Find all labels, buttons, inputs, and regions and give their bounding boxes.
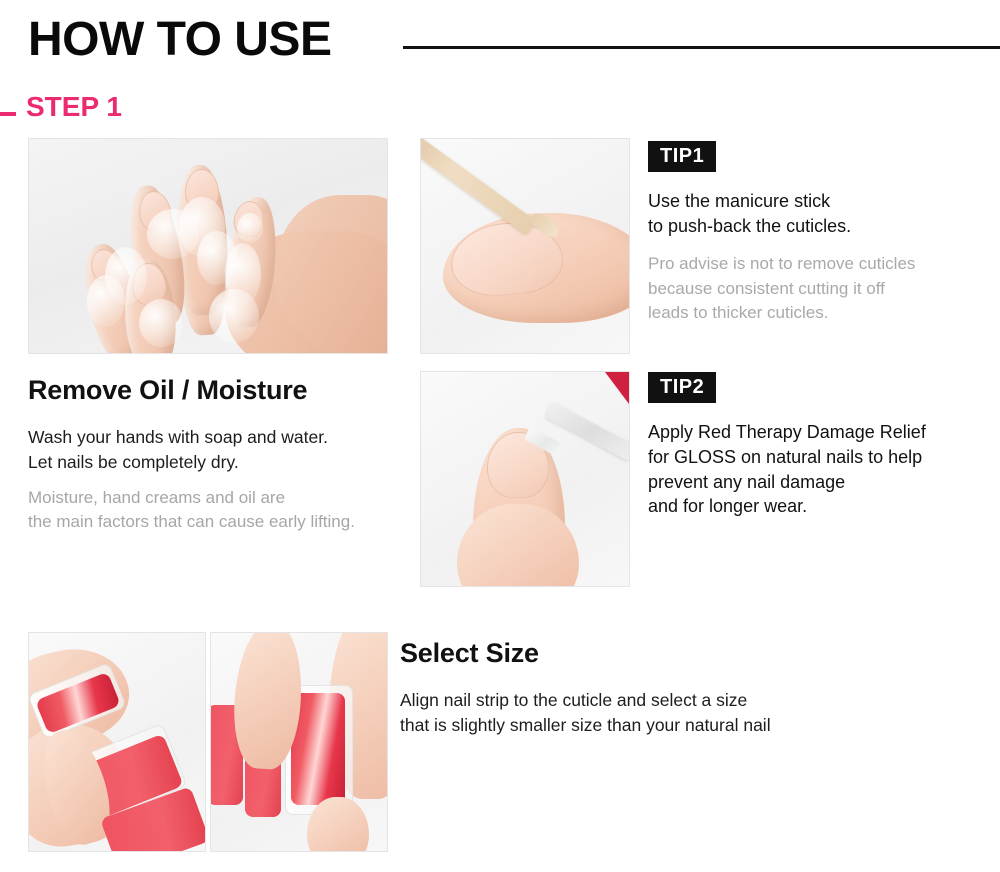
red-bottle-corner	[605, 372, 629, 404]
tip-2-main-line-3: prevent any nail damage	[648, 470, 926, 495]
page-title: HOW TO USE	[28, 16, 331, 64]
tip-1-main-text: Use the manicure stick to push-back the …	[648, 189, 851, 239]
remove-oil-note-line-1: Moisture, hand creams and oil are	[28, 486, 355, 510]
tip-2-main-text: Apply Red Therapy Damage Relief for GLOS…	[648, 420, 926, 519]
remove-oil-note-line-2: the main factors that can cause early li…	[28, 510, 355, 534]
tip-1-main-line-1: Use the manicure stick	[648, 189, 851, 214]
header-rule-divider	[403, 46, 1000, 49]
photo-manicure-stick	[420, 138, 630, 354]
remove-oil-body-line-1: Wash your hands with soap and water.	[28, 425, 328, 450]
photo-hands-with-soap	[28, 138, 388, 354]
section-body-select-size: Align nail strip to the cuticle and sele…	[400, 688, 771, 738]
manicure-stick-scene	[421, 139, 629, 353]
tip-2-main-line-2: for GLOSS on natural nails to help	[648, 445, 926, 470]
gloss-brush-scene	[421, 372, 629, 586]
section-heading-remove-oil: Remove Oil / Moisture	[28, 375, 307, 405]
photo-gloss-brush	[420, 371, 630, 587]
tip-1-note-line-1: Pro advise is not to remove cuticles	[648, 252, 915, 277]
section-body-remove-oil: Wash your hands with soap and water. Let…	[28, 425, 328, 475]
size-select-left-scene	[29, 633, 205, 851]
tip-1-note-line-2: because consistent cutting it off	[648, 277, 915, 302]
select-size-body-line-1: Align nail strip to the cuticle and sele…	[400, 688, 771, 713]
tip-1-note-line-3: leads to thicker cuticles.	[648, 301, 915, 326]
tip-2-main-line-1: Apply Red Therapy Damage Relief	[648, 420, 926, 445]
size-select-right-scene	[211, 633, 387, 851]
how-to-use-instruction-panel: HOW TO USE STEP 1	[0, 0, 1000, 872]
step-label: STEP 1	[26, 93, 122, 121]
tip-badge-2: TIP2	[648, 372, 716, 403]
step-dash-marker	[0, 112, 16, 116]
tip-2-main-line-4: and for longer wear.	[648, 494, 926, 519]
tip-1-main-line-2: to push-back the cuticles.	[648, 214, 851, 239]
section-note-remove-oil: Moisture, hand creams and oil are the ma…	[28, 486, 355, 534]
hands-scene	[29, 139, 387, 353]
select-size-body-line-2: that is slightly smaller size than your …	[400, 713, 771, 738]
photo-size-select-right	[210, 632, 388, 852]
tip-1-note-text: Pro advise is not to remove cuticles bec…	[648, 252, 915, 326]
tip-badge-1: TIP1	[648, 141, 716, 172]
remove-oil-body-line-2: Let nails be completely dry.	[28, 450, 328, 475]
section-heading-select-size: Select Size	[400, 638, 539, 668]
photo-size-select-left	[28, 632, 206, 852]
